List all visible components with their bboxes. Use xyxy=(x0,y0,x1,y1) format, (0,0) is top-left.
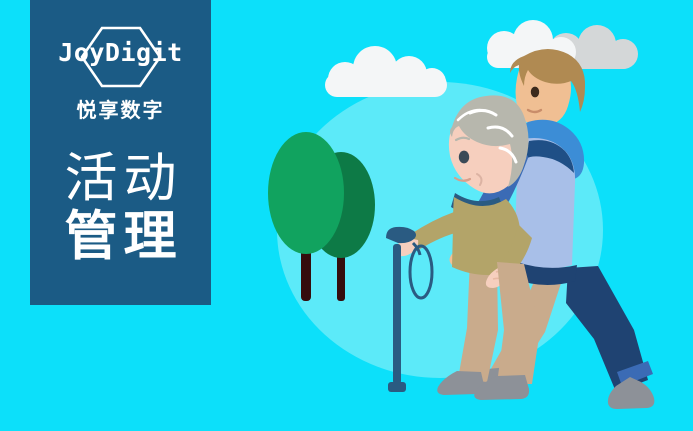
page-title-line-2: 管理 xyxy=(59,207,183,266)
title-panel: JoyDigit 悦享数字 活动 管理 xyxy=(30,0,211,305)
cane-tip xyxy=(388,382,406,392)
brand-logo-text: JoyDigit xyxy=(46,40,196,65)
woman-eye xyxy=(459,151,469,164)
brand-logo: JoyDigit xyxy=(46,26,196,88)
poster-canvas: JoyDigit 悦享数字 活动 管理 xyxy=(0,0,693,431)
cane-shaft xyxy=(393,244,401,384)
page-title-line-1: 活动 xyxy=(59,151,183,207)
page-title: 活动 管理 xyxy=(59,151,183,266)
man-eye xyxy=(531,87,539,98)
brand-logo-subtitle: 悦享数字 xyxy=(77,94,165,123)
